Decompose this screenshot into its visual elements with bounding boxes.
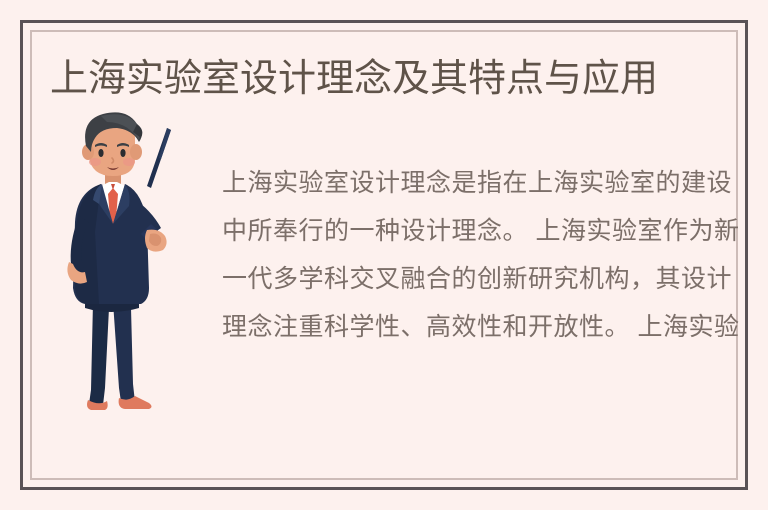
businessman-with-pointer-illustration bbox=[55, 112, 205, 412]
article-body-text: 上海实验室设计理念是指在上海实验室的建设中所奉行的一种设计理念。 上海实验室作为… bbox=[222, 159, 740, 351]
article-card: 上海实验室设计理念及其特点与应用 bbox=[0, 0, 768, 510]
page-title: 上海实验室设计理念及其特点与应用 bbox=[50, 52, 710, 106]
